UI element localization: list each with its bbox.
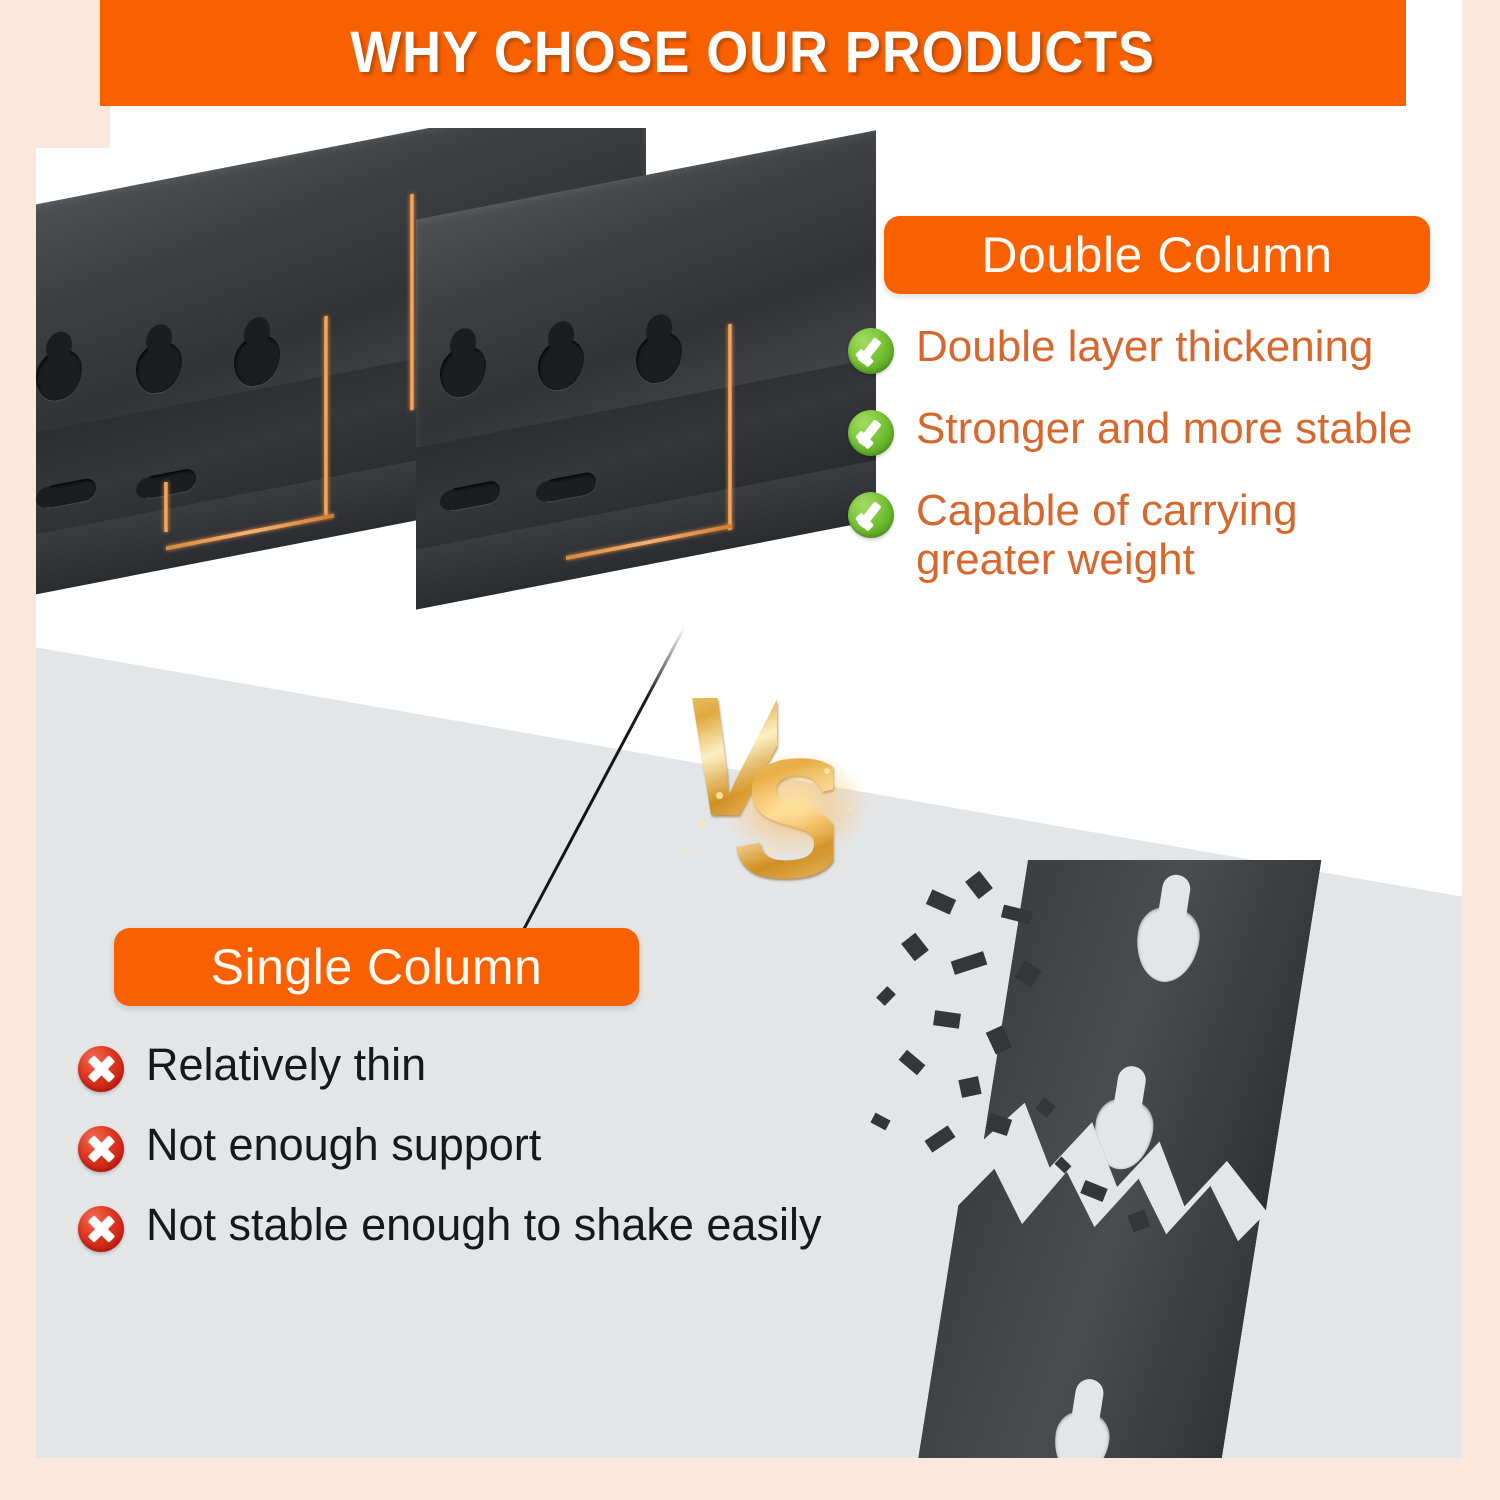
keyhole-slot: [1131, 904, 1204, 987]
frame-corner-fill: [0, 0, 110, 148]
list-item: Not stable enough to shake easily: [78, 1200, 898, 1252]
versus-letter-s: S: [734, 734, 833, 904]
beam-edge-highlight: [164, 482, 168, 532]
x-circle-icon: [78, 1126, 124, 1172]
keyhole-slot: [136, 338, 182, 397]
list-item: Relatively thin: [78, 1040, 898, 1092]
double-column-badge: Double Column: [884, 216, 1430, 294]
broken-column-photo: [842, 860, 1462, 1458]
keyhole-slot: [636, 328, 682, 387]
sparkle: [768, 848, 773, 853]
debris-shard: [901, 933, 929, 961]
debris-shard: [926, 889, 956, 914]
sparkle: [684, 850, 688, 854]
check-circle-icon: [848, 328, 894, 374]
con-label: Not stable enough to shake easily: [146, 1200, 821, 1250]
keyhole-slot: [36, 345, 82, 404]
keyhole-slot: [1089, 1095, 1157, 1173]
debris-shard: [951, 951, 988, 975]
beam-front: [416, 174, 876, 594]
list-item: Stronger and more stable: [848, 404, 1462, 456]
debris-shard: [933, 1010, 961, 1028]
list-item: Capable of carrying greater weight: [848, 486, 1462, 585]
sparkle: [700, 822, 705, 827]
list-item: Double layer thickening: [848, 322, 1462, 374]
keyhole-slot: [1050, 1409, 1113, 1458]
list-item: Not enough support: [78, 1120, 898, 1172]
debris-shard: [924, 1125, 955, 1152]
marketing-infographic: V S Double Column Double layer thickenin…: [0, 0, 1500, 1500]
keyhole-slot: [538, 335, 584, 394]
debris-shard: [899, 1050, 926, 1075]
double-column-badge-label: Double Column: [981, 230, 1332, 280]
check-circle-icon: [848, 410, 894, 456]
versus-divider: V S: [672, 672, 902, 892]
beam-edge-highlight: [324, 316, 328, 517]
debris-shard: [1054, 1157, 1071, 1174]
con-label: Relatively thin: [146, 1040, 426, 1090]
single-column-badge-label: Single Column: [211, 942, 543, 992]
debris-shard: [958, 1076, 981, 1098]
beam-edge-highlight: [728, 324, 732, 531]
keyhole-slot: [142, 467, 196, 499]
debris-shard: [876, 986, 896, 1006]
header-banner: WHY CHOSE OUR PRODUCTS: [100, 0, 1406, 106]
cons-list: Relatively thin Not enough support Not s…: [78, 1040, 898, 1280]
debris-shard: [965, 871, 993, 899]
pros-list: Double layer thickening Stronger and mor…: [848, 322, 1462, 615]
debris-shard: [1080, 1180, 1107, 1202]
sparkle: [824, 768, 830, 774]
keyhole-slot: [42, 477, 96, 509]
sparkle: [716, 792, 723, 799]
content-canvas: V S Double Column Double layer thickenin…: [36, 0, 1462, 1458]
pro-label: Capable of carrying greater weight: [916, 486, 1346, 585]
beam-edge-highlight: [410, 194, 414, 411]
keyhole-slot: [446, 479, 500, 511]
page-title: WHY CHOSE OUR PRODUCTS: [351, 24, 1156, 82]
pro-label: Double layer thickening: [916, 322, 1373, 371]
sparkle: [848, 808, 852, 812]
keyhole-slot: [440, 342, 486, 401]
single-column-badge: Single Column: [114, 928, 639, 1006]
check-circle-icon: [848, 492, 894, 538]
x-circle-icon: [78, 1206, 124, 1252]
keyhole-slot: [542, 471, 596, 503]
con-label: Not enough support: [146, 1120, 541, 1170]
x-circle-icon: [78, 1046, 124, 1092]
pro-label: Stronger and more stable: [916, 404, 1413, 453]
double-column-photo: [36, 128, 876, 640]
keyhole-slot: [234, 331, 280, 390]
